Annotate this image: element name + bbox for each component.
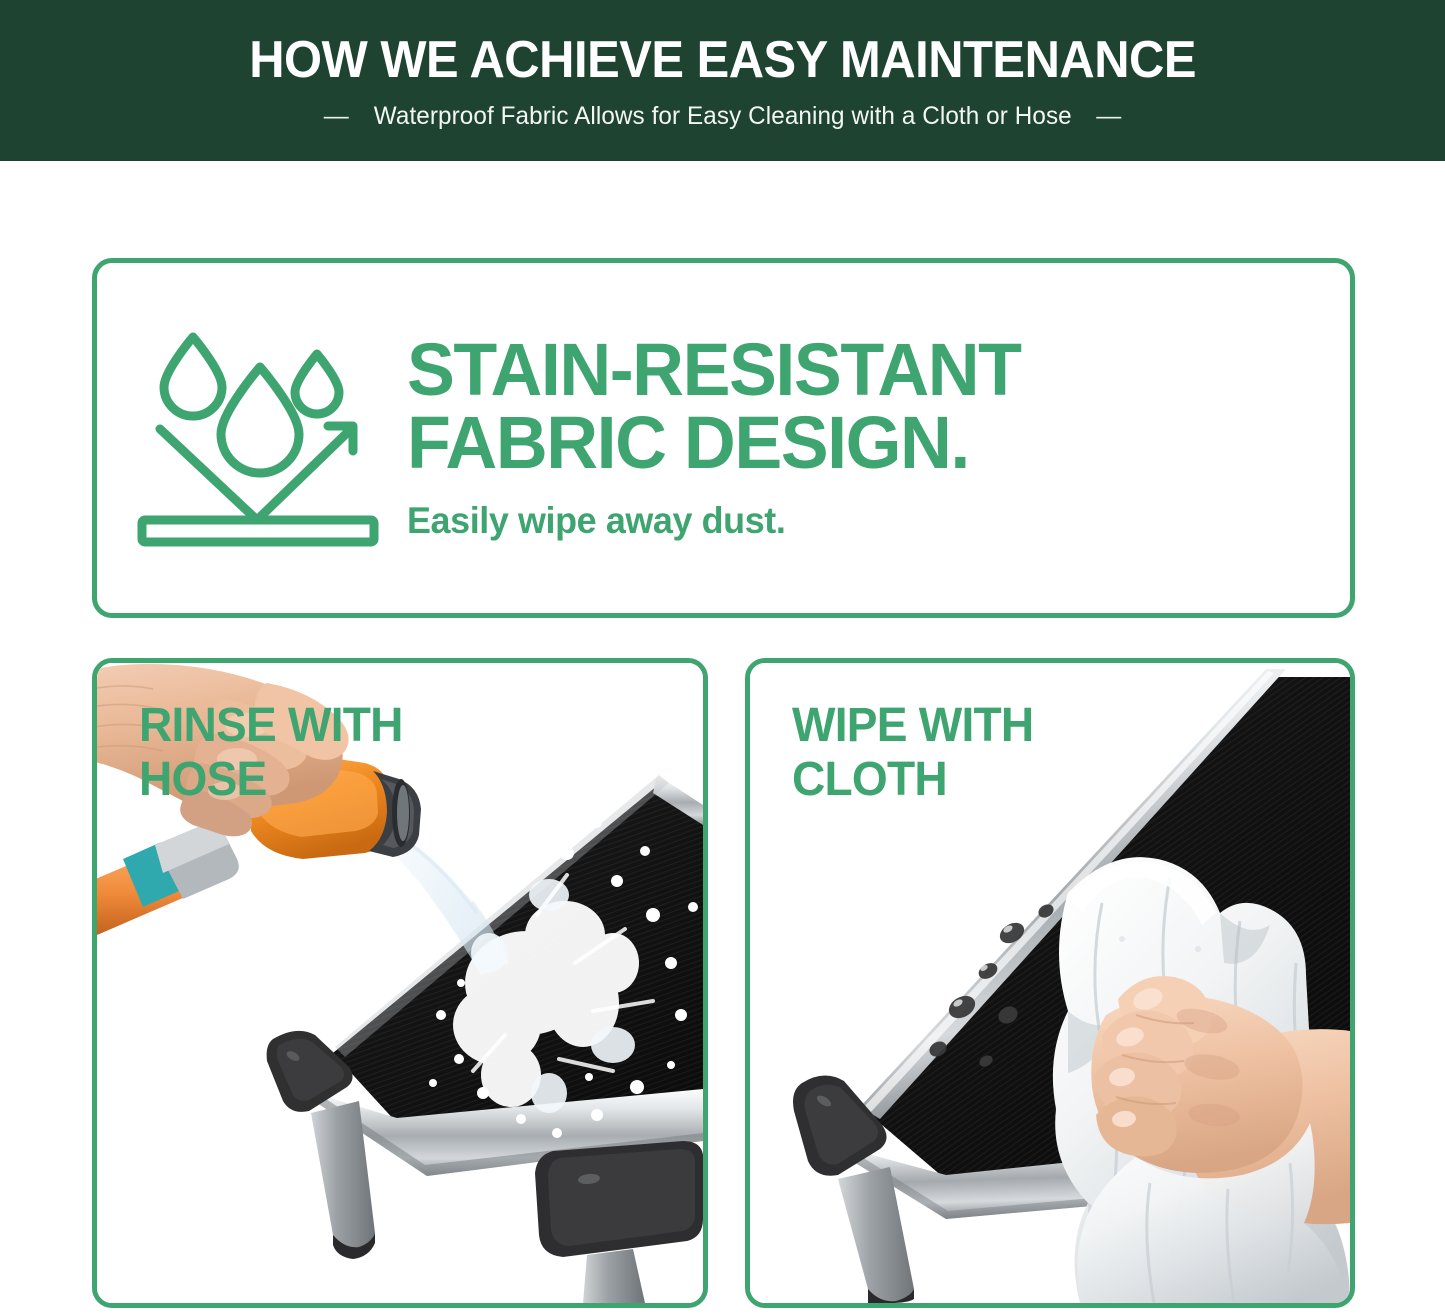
stain-resistant-card-inner: STAIN-RESISTANT FABRIC DESIGN. Easily wi… <box>97 263 1350 613</box>
header-banner: HOW WE ACHIEVE EASY MAINTENANCE — Waterp… <box>0 0 1445 161</box>
hand-spraying-hose-on-pet-bed-photo <box>97 663 703 1303</box>
stain-resistant-card: STAIN-RESISTANT FABRIC DESIGN. Easily wi… <box>92 258 1355 618</box>
stain-resistant-heading-line1: STAIN-RESISTANT <box>407 328 1021 411</box>
stain-resistant-heading: STAIN-RESISTANT FABRIC DESIGN. <box>407 334 1298 479</box>
water-repellent-icon-wrapper <box>97 263 407 613</box>
wipe-with-cloth-card: WIPE WITH CLOTH <box>745 658 1355 1308</box>
stain-resistant-heading-line2: FABRIC DESIGN. <box>407 407 1298 480</box>
hand-wiping-cloth-on-pet-bed-photo <box>750 663 1350 1303</box>
water-repellent-icon <box>136 323 386 553</box>
stain-resistant-text-block: STAIN-RESISTANT FABRIC DESIGN. Easily wi… <box>407 334 1350 541</box>
rinse-with-hose-card: RINSE WITH HOSE <box>92 658 708 1308</box>
header-subtitle-row: — Waterproof Fabric Allows for Easy Clea… <box>324 102 1122 131</box>
dash-left-icon: — <box>324 104 349 129</box>
stain-resistant-subheading: Easily wipe away dust. <box>407 500 1298 542</box>
page-title: HOW WE ACHIEVE EASY MAINTENANCE <box>249 34 1196 87</box>
dash-right-icon: — <box>1096 104 1121 129</box>
page-subtitle: Waterproof Fabric Allows for Easy Cleani… <box>374 102 1072 131</box>
